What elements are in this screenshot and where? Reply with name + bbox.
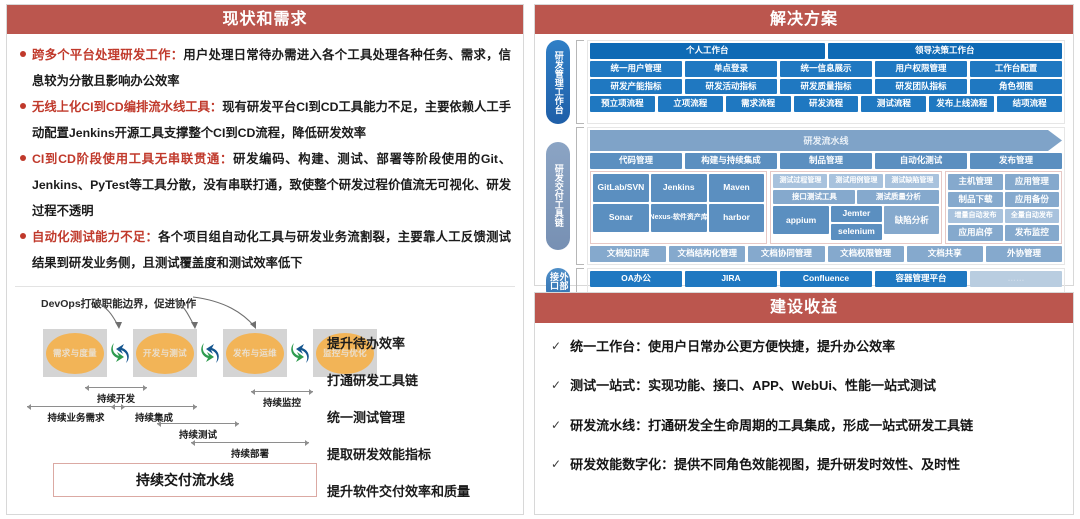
tool-tile[interactable]: 主机管理 <box>948 174 1002 190</box>
tool-tile[interactable]: selenium <box>831 224 882 240</box>
list-item: 无线上化CI到CD编排流水线工具：现有研发平台CI到CD工具能力不足，主要依赖人… <box>19 94 511 146</box>
tool-tile[interactable]: 应用管理 <box>1005 174 1059 190</box>
workbench-tile[interactable]: 统一用户管理 <box>590 61 682 77</box>
external-tile[interactable]: 容器管理平台 <box>875 271 967 287</box>
pipeline-banner: 研发流水线 <box>590 130 1062 151</box>
list-item: 自动化测试能力不足：各个项目组自动化工具与研发业务流割裂，主要靠人工反馈测试结果… <box>19 224 511 276</box>
issue-key: 无线上化CI到CD编排流水线工具： <box>32 100 222 114</box>
tool-tile[interactable]: 全量自动发布 <box>1005 209 1059 223</box>
tool-tile[interactable]: 测试用例管理 <box>829 174 883 188</box>
workbench-tile[interactable]: 用户权限管理 <box>875 61 967 77</box>
tool-tile[interactable]: appium <box>773 206 828 234</box>
bracket-icon <box>576 127 584 265</box>
devops-diagram: DevOps打破职能边界，促进协作 需求与度量 <box>15 286 515 503</box>
workbench-tile[interactable]: 单点登录 <box>685 61 777 77</box>
layer-tag-wrap: 研发管理工作台 <box>543 40 573 124</box>
bracket-icon <box>576 40 584 124</box>
bullet-dot-icon <box>20 155 26 161</box>
check-icon: ✓ <box>551 457 561 472</box>
benefits-list: ✓ 统一工作台：使用户日常办公更方便快捷，提升办公效率 ✓ 测试一站式：实现功能… <box>535 323 1073 473</box>
workbench-row-1: 统一用户管理 单点登录 统一信息展示 用户权限管理 工作台配置 <box>590 61 1062 77</box>
list-item: 打通研发工具链 <box>327 362 503 399</box>
tool-tile[interactable]: 制品下载 <box>948 192 1002 208</box>
slide-canvas: 现状和需求 跨多个平台处理研发工作：用户处理日常待办需进入各个工具处理各种任务、… <box>0 0 1080 519</box>
tool-tile[interactable]: Maven <box>709 174 765 202</box>
pipeline-stage-row: 代码管理 构建与持续集成 制品管理 自动化测试 发布管理 <box>590 153 1062 169</box>
span-line <box>251 391 313 392</box>
tool-tile[interactable]: 应用备份 <box>1005 192 1059 208</box>
lifecycle-stage: 需求与度量 <box>43 329 107 377</box>
document-tile[interactable]: 文档共享 <box>907 246 983 262</box>
span-label: 持续开发 <box>85 391 147 405</box>
list-item: ✓ 测试一站式：实现功能、接口、APP、WebUi、性能一站式测试 <box>551 378 1059 394</box>
tool-tile[interactable]: 缺陷分析 <box>884 206 939 234</box>
lifecycle-stage-label: 开发与测试 <box>136 333 194 374</box>
tool-row: Sonar Nexus-软件资产库 harbor <box>593 204 764 232</box>
benefit-text: 测试一站式：实现功能、接口、APP、WebUi、性能一站式测试 <box>570 378 936 394</box>
external-row: OA办公 JIRA Confluence 容器管理平台 …… <box>590 271 1062 287</box>
workbench-tile[interactable]: 测试流程 <box>861 96 926 112</box>
workbench-tile[interactable]: 研发产能指标 <box>590 79 682 95</box>
benefits-panel: 建设收益 ✓ 统一工作台：使用户日常办公更方便快捷，提升办公效率 ✓ 测试一站式… <box>534 292 1074 515</box>
workbench-tile[interactable]: 发布上线流程 <box>929 96 994 112</box>
document-tile[interactable]: 文档结构化管理 <box>669 246 745 262</box>
architecture-layer-toolchain: 研发交付工具链 研发流水线 代码管理 构建与持续集成 制品管理 自动化测试 发布… <box>543 127 1065 265</box>
check-icon: ✓ <box>551 378 561 393</box>
document-tool-row: 文档知识库 文档结构化管理 文档协同管理 文档权限管理 文档共享 外协管理 <box>590 246 1062 262</box>
document-tile[interactable]: 外协管理 <box>986 246 1062 262</box>
tool-tile[interactable]: Nexus-软件资产库 <box>651 204 707 232</box>
span-line <box>85 387 147 388</box>
list-item: ✓ 统一工作台：使用户日常办公更方便快捷，提升办公效率 <box>551 339 1059 355</box>
span-label: 持续集成 <box>111 410 197 424</box>
tool-tile[interactable]: 测试过程管理 <box>773 174 827 188</box>
scm-build-tools-column: GitLab/SVN Jenkins Maven Sonar Nexus-软件资… <box>590 171 767 244</box>
benefits-title: 建设收益 <box>535 293 1073 323</box>
test-tools-column: 测试过程管理 测试用例管理 测试缺陷管理 接口测试工具 测试质量分析 appiu… <box>770 171 942 244</box>
tool-row: GitLab/SVN Jenkins Maven <box>593 174 764 202</box>
workbench-tile[interactable]: 研发流程 <box>794 96 859 112</box>
continuous-delivery-pipeline-box: 持续交付流水线 <box>53 463 317 497</box>
bullet-dot-icon <box>20 51 26 57</box>
span-label: 持续监控 <box>251 395 313 409</box>
span-line <box>111 406 197 407</box>
list-item: ✓ 研发流水线：打通研发全生命周期的工具集成，形成一站式研发工具链 <box>551 418 1059 434</box>
current-state-panel: 现状和需求 跨多个平台处理研发工作：用户处理日常待办需进入各个工具处理各种任务、… <box>6 4 524 515</box>
external-tile[interactable]: Confluence <box>780 271 872 287</box>
tool-tile[interactable]: harbor <box>709 204 765 232</box>
lifecycle-stage: 发布与运维 <box>223 329 287 377</box>
sync-arrows-icon <box>107 339 133 367</box>
document-tile[interactable]: 文档权限管理 <box>828 246 904 262</box>
workbench-tile[interactable]: 预立项流程 <box>590 96 655 112</box>
issue-key: 自动化测试能力不足： <box>32 230 158 244</box>
pipeline-stage-tile[interactable]: 自动化测试 <box>875 153 967 169</box>
tool-tile[interactable]: 增量自动发布 <box>948 209 1002 223</box>
list-item: 提取研发效能指标 <box>327 436 503 473</box>
document-tile[interactable]: 文档知识库 <box>590 246 666 262</box>
lifecycle-stage-label: 需求与度量 <box>46 333 104 374</box>
devops-note: DevOps打破职能边界，促进协作 <box>41 296 196 311</box>
sync-arrows-icon <box>287 339 313 367</box>
tool-row: 制品下载 应用备份 <box>948 192 1059 208</box>
toolchain-group: 研发流水线 代码管理 构建与持续集成 制品管理 自动化测试 发布管理 GitLa… <box>587 127 1065 265</box>
tool-tile[interactable]: Jemter <box>831 206 882 222</box>
ops-tools-column: 主机管理 应用管理 制品下载 应用备份 增量自动发布 全量自动发布 <box>945 171 1062 244</box>
workbench-tile[interactable]: 研发团队指标 <box>875 79 967 95</box>
workbench-tile[interactable]: 工作台配置 <box>970 61 1062 77</box>
pipeline-stage-tile[interactable]: 发布管理 <box>970 153 1062 169</box>
lifecycle-stage: 开发与测试 <box>133 329 197 377</box>
issue-key: 跨多个平台处理研发工作： <box>32 48 183 62</box>
layer-tag-wrap: 研发交付工具链 <box>543 127 573 265</box>
tool-tile[interactable]: Jenkins <box>651 174 707 202</box>
external-tile[interactable]: JIRA <box>685 271 777 287</box>
list-item: 统一测试管理 <box>327 399 503 436</box>
workbench-tile[interactable]: 领导决策工作台 <box>828 43 1063 59</box>
benefit-text: 研发流水线：打通研发全生命周期的工具集成，形成一站式研发工具链 <box>570 418 973 434</box>
current-state-title: 现状和需求 <box>7 5 523 34</box>
tool-tile[interactable]: Sonar <box>593 204 649 232</box>
workbench-tile[interactable]: 研发质量指标 <box>780 79 872 95</box>
tool-row: 应用启停 发布监控 <box>948 225 1059 241</box>
tool-tile[interactable]: 接口测试工具 <box>773 190 855 205</box>
workbench-tile[interactable]: 结项流程 <box>997 96 1062 112</box>
issue-list: 跨多个平台处理研发工作：用户处理日常待办需进入各个工具处理各种任务、需求，信息较… <box>7 34 523 276</box>
tool-row: 测试过程管理 测试用例管理 测试缺陷管理 <box>773 174 939 188</box>
benefit-text: 统一工作台：使用户日常办公更方便快捷，提升办公效率 <box>570 339 895 355</box>
workbench-tile[interactable]: 个人工作台 <box>590 43 825 59</box>
tool-row: 主机管理 应用管理 <box>948 174 1059 190</box>
tool-tile[interactable]: 应用启停 <box>948 225 1002 241</box>
layer-tag: 研发管理工作台 <box>546 40 570 124</box>
benefit-text: 研发效能数字化：提供不同角色效能视图，提升研发时效性、及时性 <box>570 457 960 473</box>
tool-row: 增量自动发布 全量自动发布 <box>948 209 1059 223</box>
list-item: 跨多个平台处理研发工作：用户处理日常待办需进入各个工具处理各种任务、需求，信息较… <box>19 42 511 94</box>
list-item: 提升软件交付效率和质量 <box>327 473 503 510</box>
span-line <box>157 423 239 424</box>
pipeline-banner-wrap: 研发流水线 <box>590 130 1062 151</box>
pipeline-stage-tile[interactable]: 代码管理 <box>590 153 682 169</box>
architecture-layer-workbench: 研发管理工作台 个人工作台 领导决策工作台 统一用户管理 单点登录 统一信息展示… <box>543 40 1065 124</box>
sync-arrows-icon <box>197 339 223 367</box>
external-tile[interactable]: OA办公 <box>590 271 682 287</box>
check-icon: ✓ <box>551 339 561 354</box>
tool-tile[interactable]: 测试缺陷管理 <box>885 174 939 188</box>
pipeline-stage-tile[interactable]: 构建与持续集成 <box>685 153 777 169</box>
layer-tag: 研发交付工具链 <box>546 142 570 250</box>
workbench-tile[interactable]: 需求流程 <box>726 96 791 112</box>
bullet-dot-icon <box>20 233 26 239</box>
workbench-top-row: 个人工作台 领导决策工作台 <box>590 43 1062 59</box>
tool-row: 接口测试工具 测试质量分析 <box>773 190 939 205</box>
solution-panel: 解决方案 研发管理工作台 个人工作台 领导决策工作台 统一用户管理 单点登录 统 <box>534 4 1074 286</box>
tool-tile[interactable]: 测试质量分析 <box>857 190 939 205</box>
solution-architecture: 研发管理工作台 个人工作台 领导决策工作台 统一用户管理 单点登录 统一信息展示… <box>535 34 1073 279</box>
tool-columns: GitLab/SVN Jenkins Maven Sonar Nexus-软件资… <box>590 171 1062 244</box>
left-benefit-list: 提升待办效率 打通研发工具链 统一测试管理 提取研发效能指标 提升软件交付效率和… <box>327 325 503 510</box>
span-label: 持续测试 <box>157 427 239 441</box>
workbench-row-3: 预立项流程 立项流程 需求流程 研发流程 测试流程 发布上线流程 结项流程 <box>590 96 1062 112</box>
pipeline-stage-tile[interactable]: 制品管理 <box>780 153 872 169</box>
bullet-dot-icon <box>20 103 26 109</box>
list-item: 提升待办效率 <box>327 325 503 362</box>
issue-key: CI到CD阶段使用工具无串联贯通： <box>32 152 233 166</box>
document-tile[interactable]: 文档协同管理 <box>748 246 824 262</box>
span-label: 持续部署 <box>191 446 309 460</box>
solution-title: 解决方案 <box>535 5 1073 34</box>
tool-tile[interactable]: GitLab/SVN <box>593 174 649 202</box>
tool-subgroup: Jemter selenium <box>831 206 882 240</box>
check-icon: ✓ <box>551 418 561 433</box>
workbench-row-2: 研发产能指标 研发活动指标 研发质量指标 研发团队指标 角色视图 <box>590 79 1062 95</box>
lifecycle-stage-label: 发布与运维 <box>226 333 284 374</box>
workbench-group: 个人工作台 领导决策工作台 统一用户管理 单点登录 统一信息展示 用户权限管理 … <box>587 40 1065 124</box>
workbench-tile[interactable]: 统一信息展示 <box>780 61 872 77</box>
list-item: CI到CD阶段使用工具无串联贯通：研发编码、构建、测试、部署等阶段使用的Git、… <box>19 146 511 224</box>
workbench-tile[interactable]: 角色视图 <box>970 79 1062 95</box>
span-line <box>191 442 309 443</box>
list-item: ✓ 研发效能数字化：提供不同角色效能视图，提升研发时效性、及时性 <box>551 457 1059 473</box>
tool-row: appium Jemter selenium 缺陷分析 <box>773 206 939 240</box>
workbench-tile[interactable]: 研发活动指标 <box>685 79 777 95</box>
workbench-tile[interactable]: 立项流程 <box>658 96 723 112</box>
tool-tile[interactable]: 发布监控 <box>1005 225 1059 241</box>
external-tile-placeholder: …… <box>970 271 1062 287</box>
